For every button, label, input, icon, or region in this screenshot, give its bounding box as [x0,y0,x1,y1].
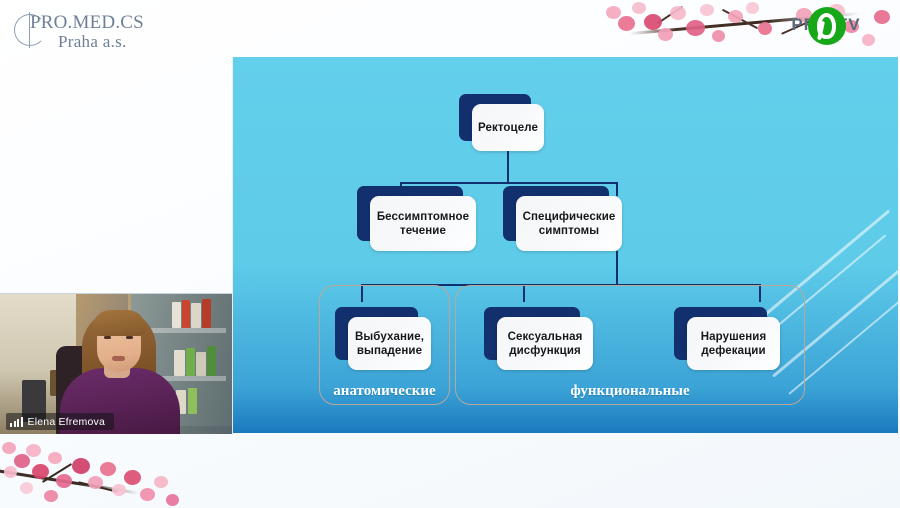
book [174,350,185,376]
person-hair-front [92,310,146,336]
brand-line-1: PRO.MED.CS [30,12,144,34]
person-mouth [112,356,125,361]
promedcs-logo: PRO.MED.CS Praha a.s. [14,8,194,56]
node-sexual-dysfunction[interactable]: Сексуальная дисфункция [497,317,593,370]
node-specific-symptoms[interactable]: Специфические симптомы [516,196,622,251]
branch-stem [0,468,139,494]
blossom-petal [32,464,49,479]
book [188,388,197,414]
blossom-petal [670,6,686,20]
blossom-petal [112,484,126,496]
blossom-petal [728,10,743,23]
blossom-petal [56,474,72,488]
blossom-petal [606,6,621,19]
connector-specific-stem [616,251,618,285]
blossom-petal [712,30,725,42]
node-card: Бессимптомное течение [370,196,476,251]
blossom-petal [48,452,62,464]
blossom-petal [746,2,759,14]
node-bulging-prolapse[interactable]: Выбухание, выпадение [348,317,431,370]
blossom-petal [686,20,705,36]
node-label: Специфические симптомы [523,210,616,238]
book [202,299,211,328]
node-defecation-disorders[interactable]: Нарушения дефекации [687,317,780,370]
blossom-petal [20,482,33,494]
node-rectocele[interactable]: Ректоцеле [472,104,544,151]
book [191,303,201,328]
node-card: Сексуальная дисфункция [497,317,593,370]
blossom-petal [44,490,58,502]
node-card: Ректоцеле [472,104,544,151]
book [182,300,190,328]
book [207,346,216,376]
blossom-petal [658,28,673,41]
connector-level2-right-drop [616,182,618,196]
blossom-petal [644,14,662,30]
group-functional-label: функциональные [455,383,805,400]
node-card: Специфические симптомы [516,196,622,251]
blossom-petal [88,476,103,489]
node-asymptomatic[interactable]: Бессимптомное течение [370,196,476,251]
participant-nameplate: Elena Efremova [6,413,114,430]
book [172,302,181,328]
blossom-petal [632,2,646,14]
blossom-petal [124,470,141,485]
blossom-petal [618,16,635,31]
green-circle-p-logo-icon [808,7,846,45]
slide-canvas: анатомические функциональные Ректоцеле Б… [233,57,898,433]
blossom-petal [166,494,179,506]
pro-tv-logo: PRO TV [766,5,886,49]
blossom-petal [140,488,155,501]
branch-twig [42,463,72,483]
signal-bars-icon [10,417,23,427]
cherry-blossom-bottom-decoration [0,428,250,508]
node-label: Выбухание, выпадение [355,330,424,358]
node-label: Ректоцеле [478,121,538,135]
node-card: Выбухание, выпадение [348,317,431,370]
blossom-petal [4,466,17,478]
branch-twig [657,6,683,24]
presentation-page: PRO.MED.CS Praha a.s. PRO TV [0,0,900,508]
node-label: Нарушения дефекации [701,330,767,358]
blossom-petal [100,462,116,476]
blossom-petal [2,442,16,454]
blossom-petal [700,4,714,16]
group-anatomical-label: анатомические [319,383,450,400]
person-eye [104,336,111,339]
connector-root-stem [507,150,509,183]
blossom-petal [26,444,41,457]
blossom-petal [154,476,168,488]
node-card: Нарушения дефекации [687,317,780,370]
connector-level2-bar [400,182,618,184]
node-label: Бессимптомное течение [377,210,469,238]
participant-name: Elena Efremova [28,416,106,428]
person-eye [126,336,133,339]
blossom-petal [14,454,30,468]
brand-line-2: Praha a.s. [58,32,127,52]
branch-twig [722,9,758,30]
node-label: Сексуальная дисфункция [508,330,583,358]
book [186,348,195,376]
book [196,352,206,376]
branch-twig [78,481,117,493]
webcam-video-tile[interactable]: Elena Efremova [0,293,232,434]
blossom-petal [72,458,90,474]
